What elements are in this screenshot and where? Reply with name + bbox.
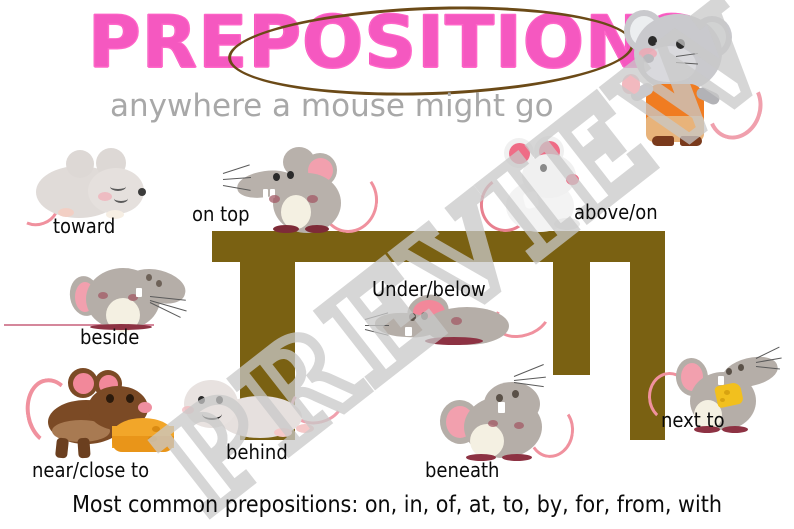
label-under-below: Under/below	[372, 277, 486, 301]
label-behind: behind	[226, 440, 288, 464]
preposition-poster: PREPOSITIONS anywhere a mouse might go	[0, 0, 794, 529]
label-near-close-to: near/close to	[32, 458, 149, 482]
mouse-under-below	[365, 295, 545, 357]
mouse-near-close-to	[26, 368, 186, 460]
footer-common-prepositions: Most common prepositions: on, in, of, at…	[0, 492, 794, 518]
table-leg-middle	[553, 262, 590, 375]
label-above-on: above/on	[574, 200, 658, 224]
mouse-mascot	[620, 4, 790, 144]
label-toward: toward	[53, 214, 115, 238]
label-on-top: on top	[192, 202, 250, 226]
label-next-to: next to	[661, 408, 725, 432]
mouse-beneath	[440, 370, 570, 464]
label-beside: beside	[80, 325, 139, 349]
table-top	[212, 231, 665, 262]
page-subtitle: anywhere a mouse might go	[110, 88, 630, 124]
label-beneath: beneath	[425, 458, 499, 482]
